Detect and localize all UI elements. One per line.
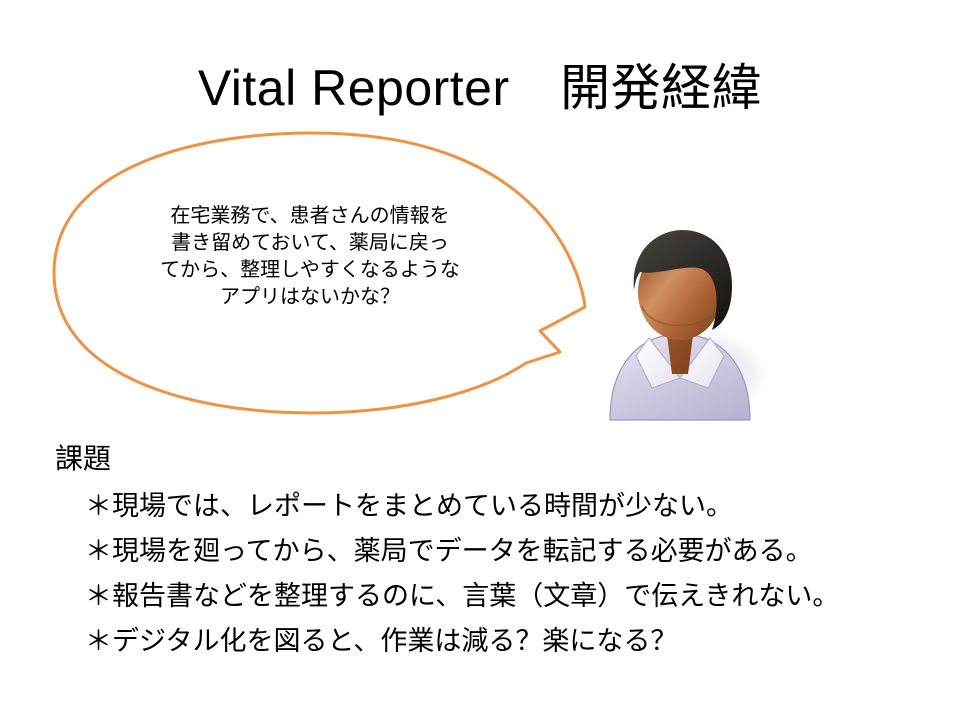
slide-canvas: Vital Reporter 開発経緯 在宅業務で、患者さんの情報を 書き留めて… [0, 0, 960, 720]
speech-bubble: 在宅業務で、患者さんの情報を 書き留めておいて、薬局に戻っ てから、整理しやすく… [40, 125, 660, 415]
speech-bubble-text: 在宅業務で、患者さんの情報を 書き留めておいて、薬局に戻っ てから、整理しやすく… [110, 203, 510, 311]
bullet-item: ＊報告書などを整理するのに、言葉（文章）で伝えきれない。 [55, 574, 935, 619]
bullet-item: ＊現場を廻ってから、薬局でデータを転記する必要がある。 [55, 529, 935, 574]
bullet-item: ＊デジタル化を図ると、作業は減る？楽になる？ [55, 619, 935, 664]
section-heading: 課題 [55, 440, 935, 478]
bullet-item: ＊現場では、レポートをまとめている時間が少ない。 [55, 484, 935, 529]
person-avatar-icon [592, 228, 782, 424]
content-block: 課題 ＊現場では、レポートをまとめている時間が少ない。 ＊現場を廻ってから、薬局… [55, 440, 935, 664]
page-title: Vital Reporter 開発経緯 [0, 58, 960, 118]
